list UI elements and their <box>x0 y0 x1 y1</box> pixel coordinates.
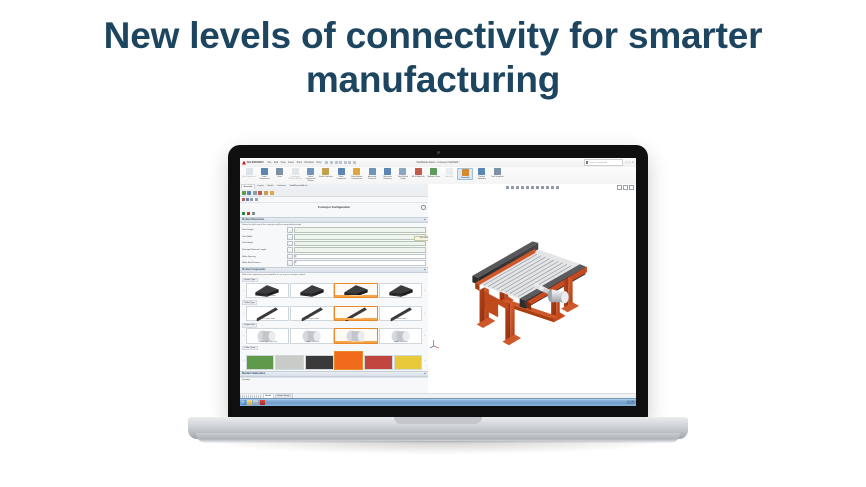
gallery-engine-kits[interactable]: Engine Kits‹1/2 HP Engine 380 RPM1 Engin… <box>240 322 428 345</box>
ribbon-button-4[interactable]: Linear Component Pattern <box>304 168 318 182</box>
gallery-caption-1-2: 1 Guided Roller <box>335 318 377 320</box>
gallery-caption-2-2: 1 Engine with Belt <box>335 341 377 343</box>
ribbon-button-6[interactable]: Move Component <box>334 168 348 180</box>
page-title: New levels of connectivity for smarter m… <box>50 14 816 102</box>
field-label-5: Roller End Distance <box>242 262 286 264</box>
property-manager-icon[interactable] <box>247 191 251 195</box>
gallery-cards-1: 1 in 1P Drive Roller1 Conveyor Roller1 G… <box>246 306 423 321</box>
gallery-caption-1-0: 1 in 1P Drive Roller <box>247 318 289 320</box>
gallery-card-1-1[interactable]: 1 Conveyor Roller <box>290 306 334 321</box>
ribbon-label-13: Instant3D <box>445 176 453 178</box>
new-file-icon[interactable] <box>325 161 328 164</box>
field-spinner-0[interactable] <box>287 227 293 233</box>
menu-item-insert[interactable]: Insert <box>288 161 294 164</box>
menu-item-help[interactable]: Help <box>316 161 321 164</box>
ribbon-icon-13 <box>446 168 453 175</box>
tree-display-icon[interactable] <box>246 198 249 201</box>
ribbon-button-1[interactable]: Insert Components <box>257 168 271 180</box>
quantity-label: Quantity <box>240 377 428 382</box>
gallery-prev-icon[interactable]: ‹ <box>242 334 245 337</box>
ribbon-label-15: Update Sprockets <box>475 176 489 180</box>
panel-title: Conveyor Configuration <box>240 203 428 212</box>
search-input[interactable]: Search Commands <box>584 159 623 166</box>
section-title: Product Dimensions <box>242 219 264 221</box>
field-input-0[interactable] <box>294 227 426 233</box>
collapse-chevron-icon[interactable]: ▲ <box>424 373 426 375</box>
edit-value-tooltip: Edit value <box>414 236 429 242</box>
ribbon-label-8: Assembly Features <box>365 176 379 180</box>
laptop-lid: SOLIDWORKS File Edit View Insert Tools W… <box>228 145 648 420</box>
ribbon-label-0: Edit Component <box>242 176 256 178</box>
titlebar-right: Search Commands — □ ✕ <box>584 159 634 166</box>
field-spinner-2[interactable] <box>287 241 293 247</box>
field-row-5[interactable]: Roller End Distance0 <box>240 260 428 267</box>
ribbon-button-16[interactable]: Take Snapshot <box>490 168 504 178</box>
gallery-row-2: ‹1/2 HP Engine 380 RPM1 Engine 750 RPM1 … <box>242 328 426 343</box>
ribbon-icon-15 <box>478 168 485 175</box>
gallery-row-1: ‹1 in 1P Drive Roller1 Conveyor Roller1 … <box>242 306 426 321</box>
slide-root: New levels of connectivity for smarter m… <box>0 0 866 487</box>
clock-date: 3/27/2017 <box>627 403 635 405</box>
gallery-color-cover[interactable]: Color Cover‹› <box>240 345 428 371</box>
gallery-thumbnail-1-1 <box>291 307 333 318</box>
field-label-4: Roller Spacing <box>242 256 286 258</box>
window-controls[interactable]: — □ ✕ <box>625 161 634 164</box>
gallery-caption-2-0: 1/2 HP Engine 380 RPM <box>247 341 289 343</box>
field-input-5[interactable]: 0 <box>294 260 426 266</box>
ribbon-label-4: Linear Component Pattern <box>304 176 318 182</box>
color-swatch-3[interactable] <box>334 351 363 370</box>
gallery-thumbnail-2-0 <box>247 330 289 341</box>
dimxpert-manager-icon[interactable] <box>258 191 262 195</box>
gallery-card-1-2[interactable]: 1 Guided Roller <box>334 306 378 321</box>
ribbon-icon-7 <box>353 168 360 175</box>
color-swatch-list <box>246 351 423 370</box>
ribbon-label-12: Exploded View <box>427 176 439 178</box>
laptop-shadow <box>208 441 668 455</box>
ribbon-label-14: Assembly <box>461 177 469 179</box>
search-icon <box>586 161 588 163</box>
section-title: Product Components <box>242 269 265 271</box>
gallery-prev-icon[interactable]: ‹ <box>242 312 245 315</box>
menu-item-edit[interactable]: Edit <box>274 161 278 164</box>
print-icon[interactable] <box>339 161 342 164</box>
ribbon-label-7: Show Hidden Components <box>350 176 364 180</box>
menu-item-tools[interactable]: Tools <box>296 161 302 164</box>
ribbon-icon-6 <box>338 168 345 175</box>
origin-triad-icon <box>431 340 440 348</box>
ribbon-button-9[interactable]: Reference Geometry <box>381 168 395 180</box>
component-gallery-list[interactable]: Frame Type‹1 in H Welded Frame1 Flat Fra… <box>240 277 428 371</box>
minimize-button[interactable]: — <box>625 161 628 164</box>
field-row-0[interactable]: Total Length <box>240 227 428 234</box>
field-input-3[interactable] <box>294 247 426 253</box>
field-label-0: Total Length <box>242 229 286 231</box>
ribbon-label-11: Bill of Materials <box>412 176 425 178</box>
ribbon-icon-3 <box>292 168 299 175</box>
gallery-thumbnail-2-1 <box>291 330 333 341</box>
color-swatch-4[interactable] <box>364 355 393 370</box>
gallery-next-icon[interactable]: › <box>423 312 426 315</box>
color-swatch-1[interactable] <box>275 355 304 370</box>
color-swatch-0[interactable] <box>246 355 275 370</box>
app-logo: SOLIDWORKS <box>242 161 264 165</box>
open-file-icon[interactable] <box>330 161 333 164</box>
ribbon-label-1: Insert Components <box>257 176 271 180</box>
ribbon-icon-10 <box>399 168 406 175</box>
ribbon-button-2[interactable]: Mate <box>273 168 287 178</box>
gallery-label-color: Color Cover <box>242 346 258 351</box>
conveyor-3d-model[interactable] <box>428 189 636 394</box>
gallery-cards-2: 1/2 HP Engine 380 RPM1 Engine 750 RPM1 E… <box>246 328 423 343</box>
ribbon-label-3: Component Preview Window <box>288 176 302 180</box>
close-button[interactable]: ✕ <box>632 161 634 164</box>
field-spinner-4[interactable] <box>287 254 293 260</box>
gallery-card-1-3[interactable]: Standard Roller 2 <box>379 306 423 321</box>
solidworks-icon[interactable] <box>260 400 265 405</box>
ribbon-icon-4 <box>307 168 314 175</box>
ribbon-button-3[interactable]: Component Preview Window <box>288 168 302 180</box>
panel-title-label: Conveyor Configuration <box>318 205 350 209</box>
ribbon-label-9: Reference Geometry <box>381 176 395 180</box>
save-icon[interactable] <box>335 161 338 164</box>
ribbon-button-0[interactable]: Edit Component <box>242 168 256 178</box>
conveyor-motor <box>548 289 569 303</box>
ribbon-button-8[interactable]: Assembly Features <box>365 168 379 180</box>
webcam-icon <box>437 151 440 154</box>
field-spinner-1[interactable] <box>287 234 293 240</box>
gallery-thumbnail-1-3 <box>380 307 422 318</box>
options-gear-icon[interactable] <box>353 161 356 164</box>
ribbon-label-5: Smart Fasteners <box>319 176 333 178</box>
ribbon-label-6: Move Component <box>334 176 348 180</box>
start-orb-icon[interactable] <box>241 400 246 405</box>
gallery-next-icon[interactable]: › <box>423 334 426 337</box>
ribbon-icon-1 <box>261 168 268 175</box>
ribbon-icon-11 <box>415 168 422 175</box>
display-manager-icon[interactable] <box>264 191 268 195</box>
ribbon-button-15[interactable]: Update Sprockets <box>475 168 489 180</box>
filter-icon[interactable] <box>242 198 245 201</box>
field-row-2[interactable]: Total Height <box>240 240 428 247</box>
dimension-field-list[interactable]: Total LengthTotal WidthEdit valueTotal H… <box>240 227 428 267</box>
panel-settings-icon[interactable] <box>421 205 426 210</box>
graphics-viewport[interactable] <box>428 184 636 394</box>
ribbon-button-11[interactable]: Bill of Materials <box>411 168 425 178</box>
solidworks-logo-icon <box>242 161 246 165</box>
field-input-1[interactable] <box>294 234 426 240</box>
undo-icon[interactable] <box>344 161 347 164</box>
gallery-card-2-3[interactable]: Engine 200 RPM <box>379 328 423 343</box>
gallery-thumbnail-1-0 <box>247 307 289 318</box>
laptop-screen: SOLIDWORKS File Edit View Insert Tools W… <box>240 158 636 406</box>
menu-item-view[interactable]: View <box>280 161 285 164</box>
cancel-x-icon[interactable] <box>247 212 250 215</box>
field-row-4[interactable]: Roller Spacing0 <box>240 253 428 260</box>
field-row-3[interactable]: Package Minimum Length <box>240 247 428 254</box>
field-spinner-3[interactable] <box>287 247 293 253</box>
gallery-card-0-3[interactable]: Slipped Frame <box>379 283 423 298</box>
property-manager-panel[interactable]: Conveyor Configuration Product Dimension… <box>240 189 429 394</box>
color-swatch-5[interactable] <box>394 355 423 370</box>
explorer-icon[interactable] <box>247 400 252 405</box>
quick-access-toolbar[interactable] <box>325 161 356 164</box>
field-label-3: Package Minimum Length <box>242 249 286 251</box>
gallery-card-0-0[interactable]: 1 in H Welded Frame <box>246 283 290 298</box>
menu-item-windows[interactable]: Windows <box>304 161 314 164</box>
search-placeholder: Search Commands <box>589 162 607 164</box>
laptop-device: SOLIDWORKS File Edit View Insert Tools W… <box>188 145 688 455</box>
gallery-card-2-1[interactable]: 1 Engine 750 RPM <box>290 328 334 343</box>
ribbon-label-2: Mate <box>278 176 282 178</box>
gallery-prev-icon[interactable]: ‹ <box>242 289 245 292</box>
feature-manager-tree-icon[interactable] <box>242 191 246 195</box>
ribbon-icon-2 <box>276 168 283 175</box>
ribbon-button-13[interactable]: Instant3D <box>442 168 456 178</box>
color-swatch-2[interactable] <box>305 355 334 370</box>
field-input-2[interactable] <box>294 241 426 247</box>
collapse-chevron-icon[interactable]: ▲ <box>424 219 426 221</box>
help-icon[interactable] <box>252 212 255 215</box>
ribbon-button-14[interactable]: Assembly <box>457 168 473 180</box>
gallery-caption-0-3: Slipped Frame <box>380 295 422 297</box>
feature-manager-tabs[interactable] <box>240 189 428 196</box>
ribbon-icon-9 <box>384 168 391 175</box>
gallery-card-1-0[interactable]: 1 in 1P Drive Roller <box>246 306 290 321</box>
gallery-thumbnail-0-1 <box>291 284 333 295</box>
gallery-thumbnail-2-2 <box>335 330 377 341</box>
field-label-2: Total Height <box>242 242 286 244</box>
gallery-card-2-0[interactable]: 1/2 HP Engine 380 RPM <box>246 328 290 343</box>
pin-icon[interactable] <box>255 198 258 201</box>
gallery-caption-1-1: 1 Conveyor Roller <box>291 318 333 320</box>
browser-icon[interactable] <box>253 400 258 405</box>
ribbon-icon-0 <box>246 168 253 175</box>
gallery-roller-type[interactable]: Roller Type‹1 in 1P Drive Roller1 Convey… <box>240 299 428 322</box>
menu-item-file[interactable]: File <box>268 161 272 164</box>
ribbon-icon-5 <box>322 168 329 175</box>
gallery-thumbnail-0-3 <box>380 284 422 295</box>
collapse-chevron-icon[interactable]: ▲ <box>424 269 426 271</box>
gallery-cards-0: 1 in H Welded Frame1 Flat Frame1 Standar… <box>246 283 423 298</box>
ribbon-button-7[interactable]: Show Hidden Components <box>350 168 364 180</box>
gallery-thumbnail-1-2 <box>335 307 377 318</box>
field-label-1: Total Width <box>242 236 286 238</box>
ribbon-button-12[interactable]: Exploded View <box>427 168 441 178</box>
taskbar-clock[interactable]: 10:42 AM 3/27/2017 <box>627 401 635 405</box>
gallery-thumbnail-0-2 <box>335 284 377 295</box>
ribbon-icon-12 <box>430 168 437 175</box>
gallery-next-icon[interactable]: › <box>423 289 426 292</box>
gallery-card-2-2[interactable]: 1 Engine with Belt <box>334 328 378 343</box>
field-row-1[interactable]: Total Width <box>240 234 428 241</box>
ribbon-button-10[interactable]: New Motion Study <box>396 168 410 180</box>
ribbon-button-5[interactable]: Smart Fasteners <box>319 168 333 178</box>
gallery-row-0: ‹1 in H Welded Frame1 Flat Frame1 Standa… <box>242 283 426 298</box>
gallery-caption-1-3: Standard Roller 2 <box>380 318 422 320</box>
gallery-card-0-2[interactable]: 1 Standard Frame <box>334 283 378 298</box>
ribbon-icon-16 <box>494 168 501 175</box>
ribbon-label-10: New Motion Study <box>396 176 410 180</box>
ok-check-icon[interactable] <box>242 212 245 215</box>
gallery-caption-0-0: 1 in H Welded Frame <box>247 295 289 297</box>
rebuild-icon[interactable] <box>348 161 351 164</box>
collapse-icon[interactable] <box>250 198 253 201</box>
gallery-row-color: ‹› <box>242 351 426 370</box>
gallery-next-icon[interactable]: › <box>423 359 426 362</box>
maximize-button[interactable]: □ <box>629 161 631 164</box>
ribbon-icon-8 <box>369 168 376 175</box>
gallery-caption-2-3: Engine 200 RPM <box>380 341 422 343</box>
gallery-thumbnail-0-0 <box>247 284 289 295</box>
add-ins-icon[interactable] <box>270 191 274 195</box>
ribbon-icon-14 <box>462 169 469 176</box>
gallery-caption-0-1: 1 Flat Frame <box>291 295 333 297</box>
gallery-caption-0-2: 1 Standard Frame <box>335 295 377 297</box>
gallery-prev-icon[interactable]: ‹ <box>242 359 245 362</box>
field-input-4[interactable]: 0 <box>294 254 426 260</box>
gallery-card-0-1[interactable]: 1 Flat Frame <box>290 283 334 298</box>
gallery-frame-type[interactable]: Frame Type‹1 in H Welded Frame1 Flat Fra… <box>240 277 428 300</box>
cad-application: SOLIDWORKS File Edit View Insert Tools W… <box>240 158 636 406</box>
ribbon-label-16: Take Snapshot <box>491 176 504 178</box>
gallery-thumbnail-2-3 <box>380 330 422 341</box>
field-spinner-5[interactable] <box>287 260 293 266</box>
configuration-manager-icon[interactable] <box>253 191 257 195</box>
brand-label: SOLIDWORKS <box>247 161 264 164</box>
menu-bar[interactable]: File Edit View Insert Tools Windows Help <box>268 161 322 164</box>
section-title: Bundle Collaboration <box>242 373 265 375</box>
windows-taskbar[interactable]: 10:42 AM 3/27/2017 <box>240 398 636 406</box>
gallery-caption-2-1: 1 Engine 750 RPM <box>291 341 333 343</box>
